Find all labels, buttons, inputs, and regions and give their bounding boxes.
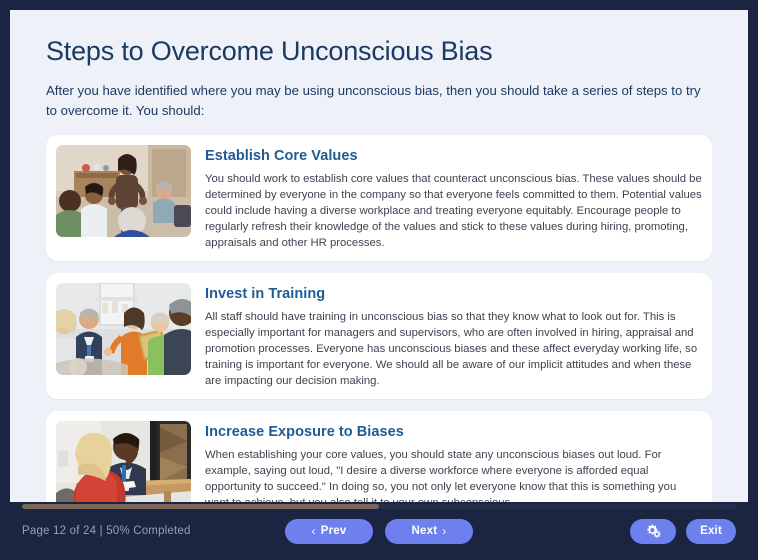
- diverse-group-training-session-photo: [56, 283, 191, 375]
- steps-card-list: Establish Core Values You should work to…: [46, 135, 712, 502]
- step-card[interactable]: Establish Core Values You should work to…: [46, 135, 712, 261]
- next-button-label: Next: [412, 519, 438, 544]
- step-card-body: Increase Exposure to Biases When establi…: [205, 421, 702, 502]
- exit-button[interactable]: Exit: [686, 519, 736, 544]
- progress-status-text: Page 12 of 24 | 50% Completed: [22, 525, 191, 537]
- progress-bar-fill: [22, 504, 379, 509]
- step-card[interactable]: Invest in Training All staff should have…: [46, 273, 712, 399]
- footer-right-controls: Exit: [630, 519, 736, 544]
- step-card-text: All staff should have training in uncons…: [205, 309, 702, 389]
- slide-footer: Page 12 of 24 | 50% Completed ‹ Prev Nex…: [10, 502, 748, 560]
- step-card-text: You should work to establish core values…: [205, 171, 702, 251]
- woman-presenting-to-seated-group-photo: [56, 145, 191, 237]
- chevron-left-icon: ‹: [312, 525, 316, 537]
- prev-button[interactable]: ‹ Prev: [285, 519, 373, 544]
- cogs-icon: [646, 524, 661, 538]
- step-card-heading: Invest in Training: [205, 286, 702, 302]
- progress-bar-track[interactable]: [22, 504, 736, 509]
- chevron-right-icon: ›: [442, 525, 446, 537]
- exit-button-label: Exit: [700, 519, 722, 544]
- page-intro-text: After you have identified where you may …: [46, 81, 706, 121]
- step-card-body: Invest in Training All staff should have…: [205, 283, 702, 389]
- step-card-heading: Establish Core Values: [205, 148, 702, 164]
- slide-frame: Steps to Overcome Unconscious Bias After…: [0, 0, 758, 560]
- settings-button[interactable]: [630, 519, 676, 544]
- page-title: Steps to Overcome Unconscious Bias: [46, 36, 712, 67]
- step-card-body: Establish Core Values You should work to…: [205, 145, 702, 251]
- next-button[interactable]: Next ›: [385, 519, 473, 544]
- step-card-text: When establishing your core values, you …: [205, 447, 702, 502]
- step-card-heading: Increase Exposure to Biases: [205, 424, 702, 440]
- slide-content-stage: Steps to Overcome Unconscious Bias After…: [10, 10, 748, 502]
- job-interview-two-people-at-table-photo: [56, 421, 191, 502]
- step-card[interactable]: Increase Exposure to Biases When establi…: [46, 411, 712, 502]
- prev-button-label: Prev: [321, 519, 347, 544]
